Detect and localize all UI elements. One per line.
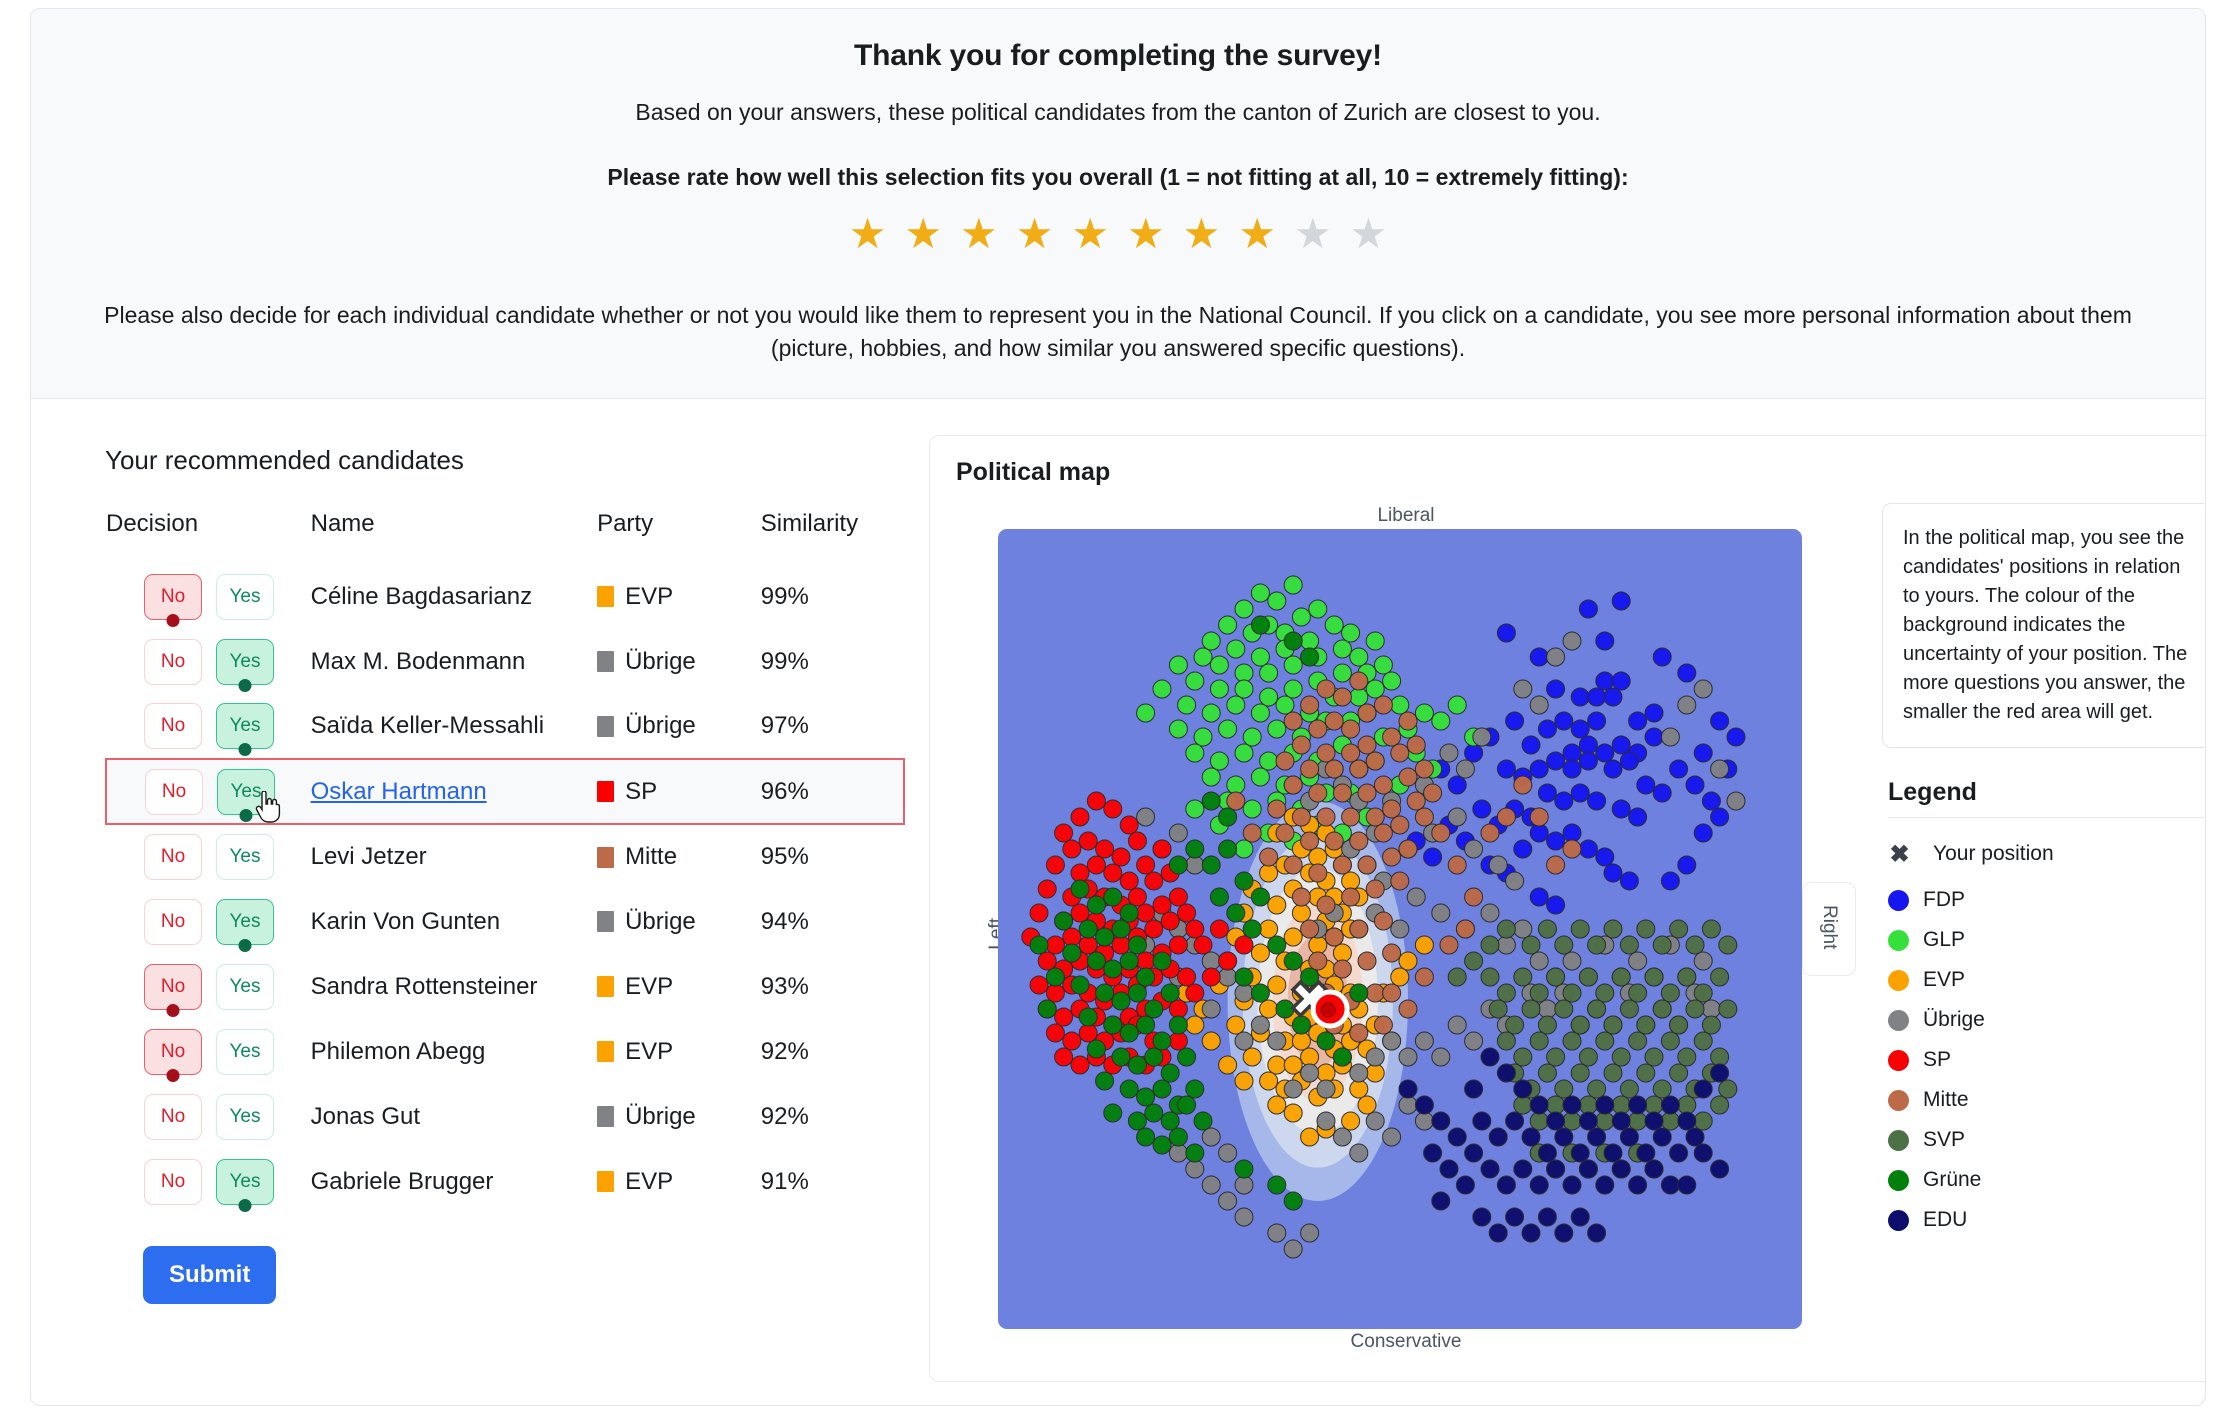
results-body: Your recommended candidates Decision Nam… (31, 399, 2205, 1402)
page-title: Thank you for completing the survey! (71, 39, 2165, 73)
legend-color-dot-icon (1888, 970, 1909, 991)
party-cell: EVP (597, 564, 761, 629)
decision-cell: NoYes (106, 759, 311, 824)
party-color-swatch-icon (597, 1041, 614, 1062)
legend-label: GLP (1923, 928, 1965, 952)
party-cell: Übrige (597, 694, 761, 759)
party-label: EVP (625, 1038, 673, 1066)
axis-label-right-text: Right (1818, 905, 1840, 949)
candidate-name: Philemon Abegg (311, 1038, 486, 1065)
overall-rating-stars[interactable]: ★★★★★★★★★★ (71, 213, 2165, 255)
legend-color-dot-icon (1888, 1170, 1909, 1191)
rating-star-3[interactable]: ★ (960, 213, 998, 255)
decision-yes-button[interactable]: Yes (216, 834, 274, 880)
party-color-swatch-icon (597, 976, 614, 997)
decision-yes-button[interactable]: Yes (216, 703, 274, 749)
candidate-name: Sandra Rottensteiner (311, 973, 538, 1000)
candidate-name: Max M. Bodenmann (311, 648, 526, 675)
submit-button[interactable]: Submit (143, 1246, 276, 1304)
rating-prompt: Please rate how well this selection fits… (71, 164, 2165, 191)
legend-color-dot-icon (1888, 1010, 1909, 1031)
rating-star-2[interactable]: ★ (904, 213, 942, 255)
party-label: SP (625, 778, 657, 806)
decision-no-label: No (161, 1106, 185, 1128)
legend-item-grüne: Grüne (1888, 1160, 2206, 1200)
decision-no-label: No (162, 781, 186, 803)
decision-yes-label: Yes (230, 911, 261, 933)
decision-selected-dot (167, 1004, 180, 1017)
party-color-swatch-icon (597, 651, 614, 672)
candidate-name: Gabriele Brugger (311, 1168, 494, 1195)
decision-selected-dot (239, 1199, 252, 1212)
political-map-scatter[interactable]: ✖ (998, 529, 1802, 1329)
decision-yes-label: Yes (230, 1171, 261, 1193)
political-map-panel: Political map Liberal Left ✖ Right Conse… (929, 435, 2206, 1382)
scatter-svg: ✖ (998, 529, 1802, 1329)
similarity-cell: 91% (761, 1149, 904, 1214)
candidate-name: Levi Jetzer (311, 843, 427, 870)
decision-no-button[interactable]: No (144, 1094, 202, 1140)
candidate-name-cell: Oskar Hartmann (311, 759, 597, 824)
decision-yes-button[interactable]: Yes (216, 639, 274, 685)
decision-no-button[interactable]: No (144, 1159, 202, 1205)
legend-color-dot-icon (1888, 1130, 1909, 1151)
candidate-name: Céline Bagdasarianz (311, 583, 532, 610)
decision-yes-button[interactable]: Yes (216, 899, 274, 945)
party-color-swatch-icon (597, 586, 614, 607)
candidates-table: Decision Name Party Similarity NoYesCéli… (105, 510, 905, 1214)
column-header-party: Party (597, 510, 761, 564)
legend-color-dot-icon (1888, 1050, 1909, 1071)
candidate-name-cell: Sandra Rottensteiner (311, 954, 597, 1019)
x-marker-icon: ✖ (1888, 840, 1911, 869)
axis-label-conservative: Conservative (956, 1329, 1856, 1355)
legend-item-edu: EDU (1888, 1200, 2206, 1240)
table-row[interactable]: NoYesPhilemon AbeggEVP92% (106, 1019, 904, 1084)
decision-no-button[interactable]: No (144, 639, 202, 685)
candidate-name-cell: Céline Bagdasarianz (311, 564, 597, 629)
rating-star-7[interactable]: ★ (1183, 213, 1221, 255)
candidates-heading: Your recommended candidates (105, 445, 905, 476)
party-label: Übrige (625, 712, 696, 740)
map-side-panel: In the political map, you see the candid… (1882, 503, 2206, 1355)
decision-yes-label: Yes (230, 715, 261, 737)
decision-yes-label: Yes (230, 846, 261, 868)
party-color-swatch-icon (597, 716, 614, 737)
rating-star-4[interactable]: ★ (1016, 213, 1054, 255)
candidate-name-cell: Jonas Gut (311, 1084, 597, 1149)
party-cell: EVP (597, 954, 761, 1019)
party-label: EVP (625, 973, 673, 1001)
decision-selected-dot (167, 1069, 180, 1082)
candidate-name-cell: Karin Von Gunten (311, 889, 597, 954)
party-color-swatch-icon (597, 781, 614, 802)
rating-star-10[interactable]: ★ (1350, 213, 1388, 255)
party-label: Übrige (625, 908, 696, 936)
decision-no-button[interactable]: No (145, 769, 203, 815)
party-color-swatch-icon (597, 911, 614, 932)
decision-no-button[interactable]: No (144, 834, 202, 880)
similarity-cell: 93% (761, 954, 904, 1019)
table-row[interactable]: NoYesMax M. BodenmannÜbrige99% (106, 629, 904, 694)
party-label: Mitte (625, 843, 677, 871)
decision-no-button[interactable]: No (144, 899, 202, 945)
legend-label: FDP (1923, 888, 1965, 912)
decision-selected-dot (239, 743, 252, 756)
candidate-name-cell: Saïda Keller-Messahli (311, 694, 597, 759)
legend-color-dot-icon (1888, 890, 1909, 911)
legend-divider (1888, 817, 2206, 818)
decision-selected-dot (239, 679, 252, 692)
legend-label-your-position: Your position (1933, 842, 2054, 866)
decision-no-button[interactable]: No (144, 703, 202, 749)
party-color-swatch-icon (597, 1171, 614, 1192)
decision-yes-button[interactable]: Yes (216, 964, 274, 1010)
legend-item-fdp: FDP (1888, 880, 2206, 920)
decision-no-label: No (161, 1041, 185, 1063)
decision-cell: NoYes (106, 1149, 311, 1214)
map-info-text: In the political map, you see the candid… (1882, 503, 2206, 748)
decision-no-button[interactable]: No (144, 574, 202, 620)
similarity-cell: 95% (761, 824, 904, 889)
rating-star-5[interactable]: ★ (1071, 213, 1109, 255)
decision-selected-dot (240, 809, 253, 822)
similarity-cell: 99% (761, 564, 904, 629)
rating-star-8[interactable]: ★ (1238, 213, 1276, 255)
decision-yes-label: Yes (230, 586, 261, 608)
candidate-name: Jonas Gut (311, 1103, 420, 1130)
party-label: Übrige (625, 648, 696, 676)
rating-star-1[interactable]: ★ (849, 213, 887, 255)
decision-yes-label: Yes (230, 651, 261, 673)
party-label: EVP (625, 1168, 673, 1196)
legend-label: SVP (1923, 1128, 1965, 1152)
legend-label: EDU (1923, 1208, 1967, 1232)
column-header-decision: Decision (106, 510, 311, 564)
party-cell: EVP (597, 1019, 761, 1084)
legend-label: EVP (1923, 968, 1965, 992)
political-map-title: Political map (956, 458, 2206, 487)
column-header-similarity: Similarity (761, 510, 904, 564)
legend-label: SP (1923, 1048, 1951, 1072)
decision-no-label: No (161, 911, 185, 933)
similarity-cell: 92% (761, 1019, 904, 1084)
party-color-swatch-icon (597, 1106, 614, 1127)
party-cell: Übrige (597, 629, 761, 694)
candidate-name-cell: Max M. Bodenmann (311, 629, 597, 694)
similarity-cell: 96% (761, 759, 904, 824)
decision-no-label: No (161, 586, 185, 608)
table-header-row: Decision Name Party Similarity (106, 510, 904, 564)
axis-label-right: Right (1802, 882, 1856, 976)
similarity-cell: 94% (761, 889, 904, 954)
legend-label: Übrige (1923, 1008, 1985, 1032)
party-cell: Übrige (597, 889, 761, 954)
table-row[interactable]: NoYesJonas GutÜbrige92% (106, 1084, 904, 1149)
decision-yes-label: Yes (230, 1106, 261, 1128)
instructions-note: Please also decide for each individual c… (71, 299, 2165, 364)
legend-item-glp: GLP (1888, 920, 2206, 960)
decision-no-label: No (161, 976, 185, 998)
similarity-cell: 99% (761, 629, 904, 694)
decision-cell: NoYes (106, 954, 311, 1019)
decision-cell: NoYes (106, 629, 311, 694)
table-row[interactable]: NoYesKarin Von GuntenÜbrige94% (106, 889, 904, 954)
decision-yes-button[interactable]: Yes (216, 1159, 274, 1205)
candidate-name-cell: Philemon Abegg (311, 1019, 597, 1084)
candidate-name-cell: Gabriele Brugger (311, 1149, 597, 1214)
map-legend: Legend ✖ Your position FDPGLPEVPÜbrigeSP… (1882, 778, 2206, 1240)
decision-yes-button[interactable]: Yes (216, 1094, 274, 1140)
decision-cell: NoYes (106, 824, 311, 889)
legend-label: Grüne (1923, 1168, 1981, 1192)
party-color-swatch-icon (597, 847, 614, 868)
legend-title: Legend (1888, 778, 2206, 807)
map-plot-area: Liberal Left ✖ Right Conservative (956, 503, 1856, 1355)
rating-star-6[interactable]: ★ (1127, 213, 1165, 255)
decision-cell: NoYes (106, 889, 311, 954)
decision-yes-label: Yes (230, 976, 261, 998)
recommended-candidates-panel: Your recommended candidates Decision Nam… (65, 435, 905, 1382)
table-row[interactable]: NoYesGabriele BruggerEVP91% (106, 1149, 904, 1214)
candidate-name: Karin Von Gunten (311, 908, 500, 935)
decision-selected-dot (239, 939, 252, 952)
decision-no-label: No (161, 651, 185, 673)
legend-color-dot-icon (1888, 1090, 1909, 1111)
rating-star-9[interactable]: ★ (1294, 213, 1332, 255)
axis-label-liberal: Liberal (956, 503, 1856, 529)
decision-no-label: No (161, 715, 185, 737)
candidate-name-cell: Levi Jetzer (311, 824, 597, 889)
legend-color-dot-icon (1888, 930, 1909, 951)
table-row[interactable]: NoYesLevi JetzerMitte95% (106, 824, 904, 889)
decision-no-label: No (161, 846, 185, 868)
decision-no-label: No (161, 1171, 185, 1193)
decision-cell: NoYes (106, 1019, 311, 1084)
table-row[interactable]: NoYesOskar HartmannSP96% (106, 759, 904, 824)
decision-selected-dot (167, 614, 180, 627)
table-row[interactable]: NoYesSandra RottensteinerEVP93% (106, 954, 904, 1019)
similarity-cell: 92% (761, 1084, 904, 1149)
results-header: Thank you for completing the survey! Bas… (31, 9, 2205, 399)
legend-item-mitte: Mitte (1888, 1080, 2206, 1120)
candidate-name: Saïda Keller-Messahli (311, 712, 544, 739)
decision-cell: NoYes (106, 694, 311, 759)
legend-label: Mitte (1923, 1088, 1969, 1112)
legend-color-dot-icon (1888, 1210, 1909, 1231)
table-row[interactable]: NoYesCéline BagdasarianzEVP99% (106, 564, 904, 629)
table-row[interactable]: NoYesSaïda Keller-MessahliÜbrige97% (106, 694, 904, 759)
survey-results-page: Thank you for completing the survey! Bas… (30, 8, 2206, 1406)
party-label: Übrige (625, 1103, 696, 1131)
decision-cell: NoYes (106, 564, 311, 629)
decision-yes-button[interactable]: Yes (217, 769, 275, 815)
party-cell: Übrige (597, 1084, 761, 1149)
decision-cell: NoYes (106, 1084, 311, 1149)
decision-no-button[interactable]: No (144, 964, 202, 1010)
results-subtitle: Based on your answers, these political c… (71, 99, 2165, 126)
column-header-name: Name (311, 510, 597, 564)
legend-item-sp: SP (1888, 1040, 2206, 1080)
decision-yes-label: Yes (230, 1041, 261, 1063)
legend-item-evp: EVP (1888, 960, 2206, 1000)
candidate-name-link[interactable]: Oskar Hartmann (311, 778, 487, 805)
party-label: EVP (625, 583, 673, 611)
party-cell: SP (597, 759, 761, 824)
decision-yes-button[interactable]: Yes (216, 1029, 274, 1075)
legend-item-übrige: Übrige (1888, 1000, 2206, 1040)
similarity-cell: 97% (761, 694, 904, 759)
party-cell: EVP (597, 1149, 761, 1214)
legend-item-your-position: ✖ Your position (1888, 834, 2206, 874)
axis-label-left: Left (956, 908, 998, 950)
legend-item-svp: SVP (1888, 1120, 2206, 1160)
decision-yes-button[interactable]: Yes (216, 574, 274, 620)
decision-no-button[interactable]: No (144, 1029, 202, 1075)
party-cell: Mitte (597, 824, 761, 889)
decision-yes-label: Yes (231, 781, 262, 803)
